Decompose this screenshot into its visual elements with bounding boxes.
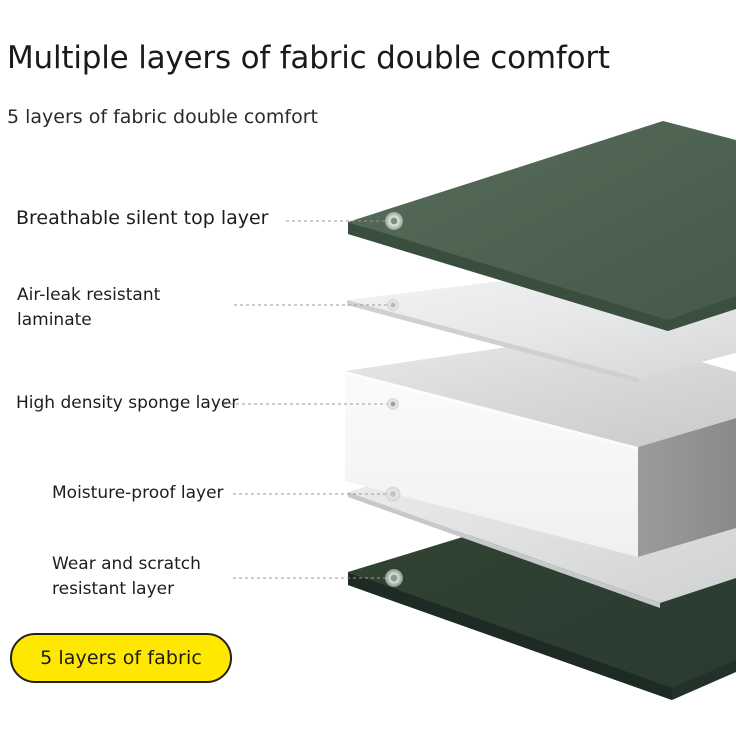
diagram-canvas: Multiple layers of fabric double comfort… (0, 0, 736, 736)
layer-label-wear-scratch-resistant: Wear and scratch resistant layer (52, 552, 201, 602)
layer-stack-illustration (0, 0, 736, 736)
layer-label-moisture-proof: Moisture-proof layer (52, 481, 224, 506)
layer-label-high-density-sponge: High density sponge layer (16, 391, 238, 416)
callout-dot-3-core (391, 402, 396, 407)
callout-dot-4-core (390, 491, 396, 497)
layer-label-air-leak-resistant-laminate: Air-leak resistant laminate (17, 283, 160, 333)
layer-label-breathable-silent-top: Breathable silent top layer (16, 206, 268, 231)
layers-count-badge[interactable]: 5 layers of fabric (10, 633, 232, 683)
callout-dot-5-core (391, 575, 398, 582)
layers-count-badge-label: 5 layers of fabric (40, 647, 202, 669)
callout-dot-1-core (391, 218, 398, 225)
callout-dot-2-core (391, 303, 396, 308)
